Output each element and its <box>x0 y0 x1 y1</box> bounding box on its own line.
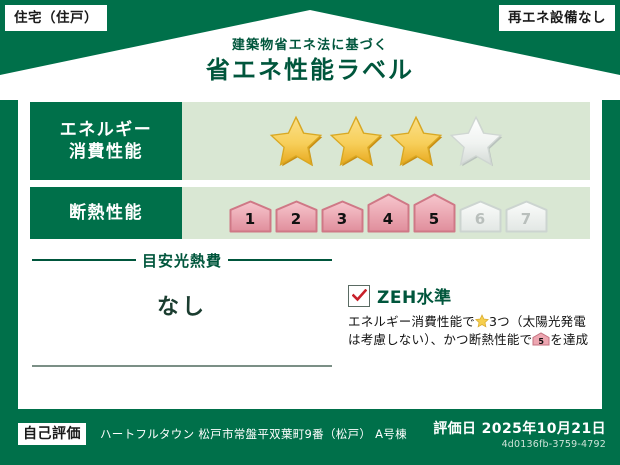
utility-cost-title: 目安光熱費 <box>142 250 222 271</box>
utility-cost-value: なし <box>32 289 332 321</box>
zeh-checkbox[interactable] <box>348 285 370 307</box>
insulation-level-number: 3 <box>321 210 364 228</box>
property-address: ハートフルタウン 松戸市常盤平双葉町9番（松戸） A号棟 <box>100 425 407 443</box>
tab-renewable-equipment[interactable]: 再エネ設備なし <box>499 5 615 31</box>
zeh-header: ZEH水準 <box>348 283 594 308</box>
inline-star-icon <box>475 314 489 328</box>
energy-performance-row: エネルギー 消費性能 <box>30 102 590 180</box>
insulation-level-number: 5 <box>413 210 456 228</box>
insulation-level-number: 2 <box>275 210 318 228</box>
star-filled-icon <box>388 114 444 168</box>
zeh-desc-part2: は考慮しない）、かつ断熱性能で <box>348 332 532 347</box>
star-empty-icon <box>448 114 504 168</box>
check-icon <box>352 289 367 302</box>
insulation-level-1: 1 <box>229 200 272 233</box>
inline-house-number: 5 <box>532 337 550 346</box>
insulation-label: 断熱性能 <box>69 202 143 224</box>
insulation-level-number: 7 <box>505 210 548 228</box>
insulation-level-number: 1 <box>229 210 272 228</box>
label-panel: エネルギー 消費性能 断熱性能 1234567 目安光熱費 なし <box>18 93 602 409</box>
zeh-desc-part3: を達成 <box>550 332 588 347</box>
footer: 自己評価 ハートフルタウン 松戸市常盤平双葉町9番（松戸） A号棟 評価日 20… <box>0 409 620 465</box>
insulation-performance-row: 断熱性能 1234567 <box>30 187 590 239</box>
energy-performance-value-cell <box>182 102 590 180</box>
page-title: 省エネ性能ラベル <box>0 55 620 85</box>
star-rating <box>268 114 504 168</box>
insulation-level-6: 6 <box>459 200 502 233</box>
star-filled-icon <box>268 114 324 168</box>
zeh-block: ZEH水準 エネルギー消費性能で 3つ（太陽光発電 は考慮しない）、かつ断熱性能… <box>348 283 594 349</box>
insulation-level-number: 4 <box>367 210 410 228</box>
insulation-level-3: 3 <box>321 200 364 233</box>
insulation-level-number: 6 <box>459 210 502 228</box>
zeh-desc-stars: 3つ（太陽光発電 <box>489 314 586 329</box>
insulation-performance-label-cell: 断熱性能 <box>30 187 182 239</box>
title-subtitle: 建築物省エネ法に基づく <box>0 38 620 54</box>
insulation-level-4: 4 <box>367 193 410 233</box>
inline-house-icon: 5 <box>532 332 550 346</box>
self-evaluation-badge: 自己評価 <box>18 423 86 445</box>
energy-performance-label: 住宅（住戸） 再エネ設備なし 建築物省エネ法に基づく 省エネ性能ラベル エネルギ… <box>0 0 620 465</box>
zeh-desc-part1: エネルギー消費性能で <box>348 314 475 329</box>
insulation-level-5: 5 <box>413 193 456 233</box>
zeh-description: エネルギー消費性能で 3つ（太陽光発電 は考慮しない）、かつ断熱性能で 5 を達… <box>348 313 594 349</box>
cost-rule-right <box>228 259 332 261</box>
title-block: 建築物省エネ法に基づく 省エネ性能ラベル <box>0 38 620 85</box>
insulation-level-2: 2 <box>275 200 318 233</box>
cost-rule-left <box>32 259 136 261</box>
energy-performance-label-cell: エネルギー 消費性能 <box>30 102 182 180</box>
energy-label-line1: エネルギー <box>60 119 153 141</box>
cost-bottom-divider <box>32 365 332 367</box>
tab-building-type[interactable]: 住宅（住戸） <box>5 5 107 31</box>
insulation-level-scale: 1234567 <box>225 193 548 233</box>
evaluation-date: 評価日 2025年10月21日 <box>433 420 606 438</box>
insulation-performance-value-cell: 1234567 <box>182 187 590 239</box>
insulation-level-7: 7 <box>505 200 548 233</box>
star-filled-icon <box>328 114 384 168</box>
zeh-title: ZEH水準 <box>377 283 452 308</box>
evaluation-id: 4d0136fb-3759-4792 <box>502 439 606 451</box>
utility-cost-header: 目安光熱費 <box>32 250 332 270</box>
energy-label-line2: 消費性能 <box>69 141 143 163</box>
